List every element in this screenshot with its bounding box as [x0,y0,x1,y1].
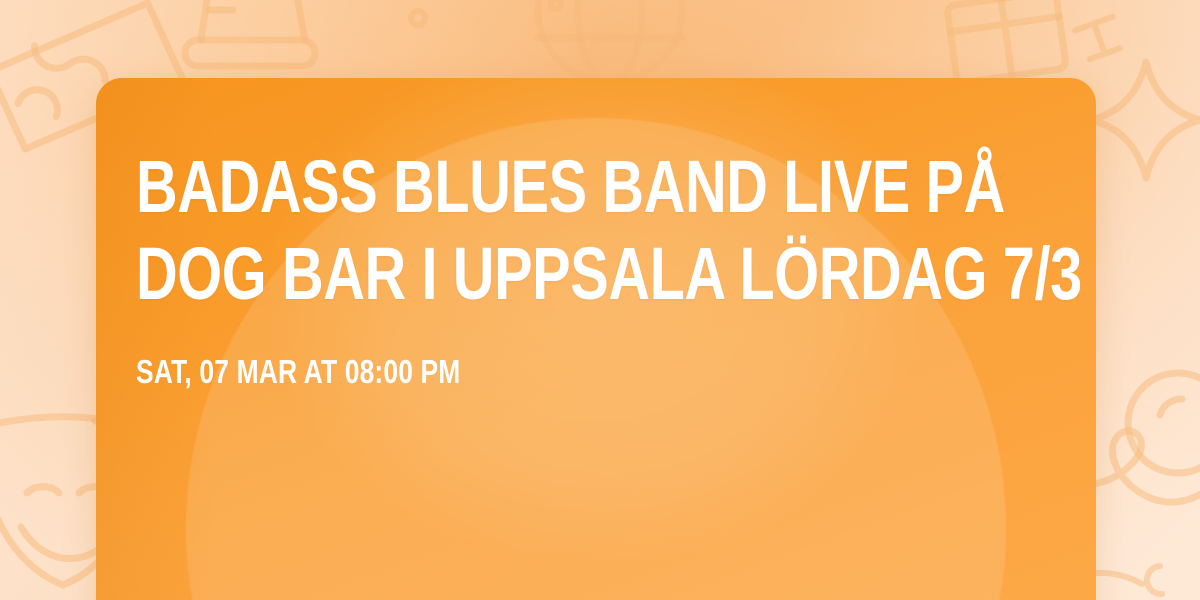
balloon-doodle [1128,373,1200,473]
event-title-line-2: DOG BAR I UPPSALA LÖRDAG 7/3 [136,237,847,310]
event-title-line-1: BADASS BLUES BAND LIVE PÅ [136,150,847,223]
page-title: BADASS BLUES BAND LIVE PÅ DOG BAR I UPPS… [136,150,847,311]
popcorn-doodle [185,0,315,66]
event-date-text: SAT, 07 MAR AT 08:00 PM [136,355,866,388]
card-content: BADASS BLUES BAND LIVE PÅ DOG BAR I UPPS… [136,150,1048,388]
flag-doodle [1075,17,1124,61]
event-banner: BADASS BLUES BAND LIVE PÅ DOG BAR I UPPS… [0,0,1200,600]
event-card[interactable]: BADASS BLUES BAND LIVE PÅ DOG BAR I UPPS… [96,78,1096,600]
globe-doodle [538,0,682,82]
sparkle-doodle [1092,62,1200,178]
gift-doodle [940,0,1066,83]
